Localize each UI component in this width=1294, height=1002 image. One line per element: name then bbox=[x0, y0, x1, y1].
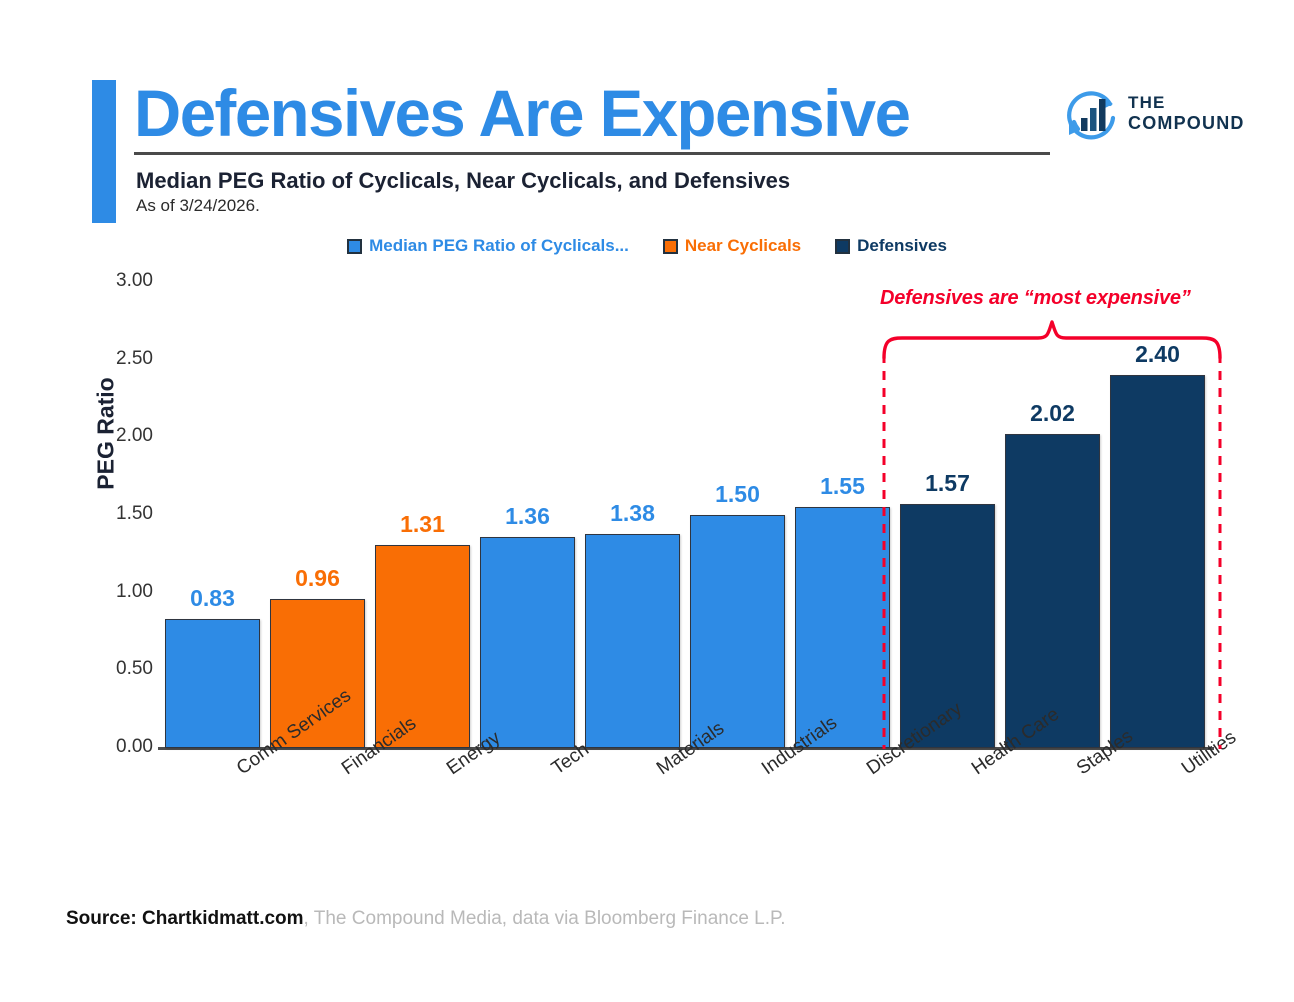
bar-column[interactable]: 1.31 bbox=[375, 545, 470, 748]
bar-column[interactable]: 0.83 bbox=[165, 619, 260, 748]
bar-value-label: 0.96 bbox=[295, 565, 340, 592]
bar-rect[interactable] bbox=[375, 545, 470, 748]
source-grey-text: , The Compound Media, data via Bloomberg… bbox=[304, 908, 786, 929]
bar-column[interactable]: 1.55 bbox=[795, 507, 890, 748]
y-axis-tick-label: 0.50 bbox=[95, 658, 153, 680]
bar-rect[interactable] bbox=[480, 537, 575, 748]
bar-value-label: 1.55 bbox=[820, 473, 865, 500]
bar-rect[interactable] bbox=[165, 619, 260, 748]
curly-brace-bracket-icon bbox=[884, 322, 1220, 358]
bar-rect[interactable] bbox=[585, 534, 680, 748]
y-axis-tick-label: 2.50 bbox=[95, 348, 153, 370]
y-axis-tick-label: 1.00 bbox=[95, 581, 153, 603]
y-axis-tick-label: 1.50 bbox=[95, 503, 153, 525]
y-axis-ticks: 3.002.502.001.501.000.500.00 bbox=[95, 0, 153, 1002]
annotation-brace-and-dashes bbox=[880, 318, 1225, 754]
bar-column[interactable]: 1.38 bbox=[585, 534, 680, 748]
bar-rect[interactable] bbox=[795, 507, 890, 748]
bar-value-label: 1.31 bbox=[400, 511, 445, 538]
x-axis-labels: Comm ServicesFinancialsEnergyTechMateria… bbox=[160, 752, 1210, 882]
y-axis-tick-label: 2.00 bbox=[95, 425, 153, 447]
bar-value-label: 1.38 bbox=[610, 500, 655, 527]
y-axis-tick-label: 3.00 bbox=[95, 270, 153, 292]
chart-infographic: Defensives Are Expensive Median PEG Rati… bbox=[0, 0, 1294, 1002]
bar-value-label: 1.36 bbox=[505, 503, 550, 530]
annotation-label: Defensives are “most expensive” bbox=[880, 287, 1191, 310]
source-bold-text: Source: Chartkidmatt.com bbox=[66, 908, 304, 929]
bar-column[interactable]: 1.50 bbox=[690, 515, 785, 748]
bar-rect[interactable] bbox=[690, 515, 785, 748]
bar-value-label: 0.83 bbox=[190, 585, 235, 612]
source-footer: Source: Chartkidmatt.com, The Compound M… bbox=[66, 908, 786, 930]
bar-value-label: 1.50 bbox=[715, 481, 760, 508]
bar-column[interactable]: 1.36 bbox=[480, 537, 575, 748]
y-axis-tick-label: 0.00 bbox=[95, 736, 153, 758]
